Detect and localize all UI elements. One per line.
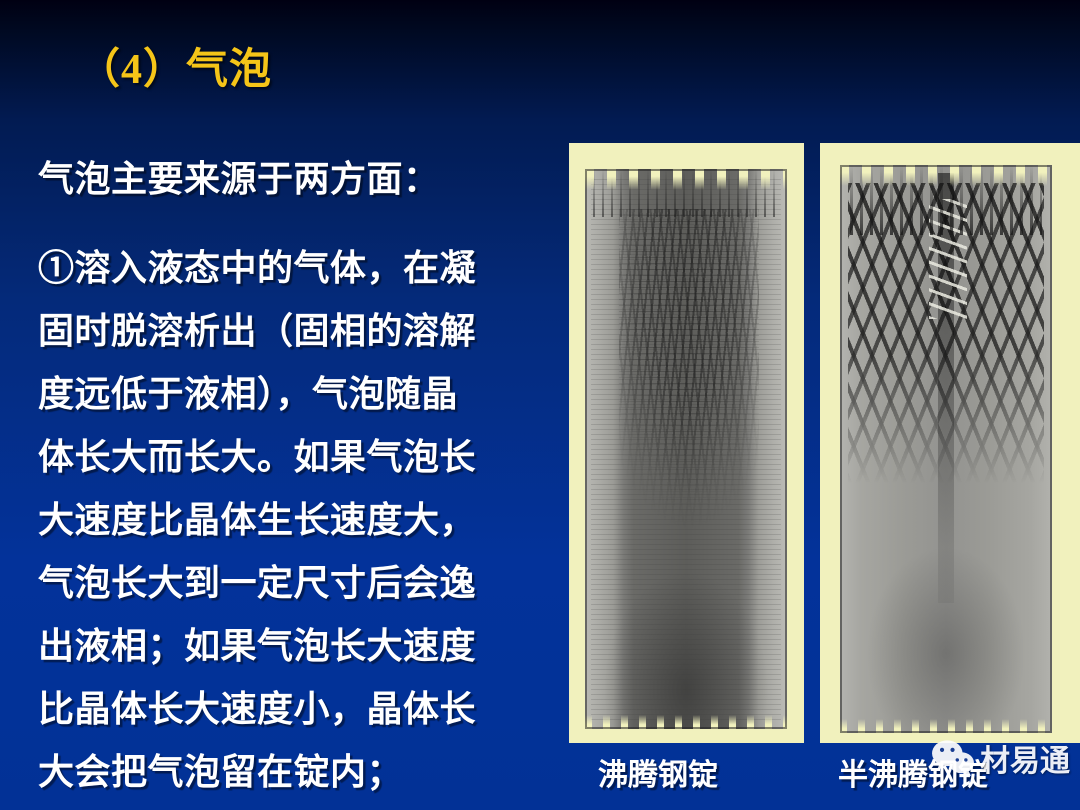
watermark: 材易通 bbox=[930, 736, 1070, 780]
body-line: 气泡长大到一定尺寸后会逸 bbox=[38, 552, 548, 615]
body-text-block: 气泡主要来源于两方面： ①溶入液态中的气体，在凝 固时脱溶析出（固相的溶解 度远… bbox=[38, 148, 548, 804]
figure-caption-left: 沸腾钢锭 bbox=[598, 750, 718, 794]
ingot-outline bbox=[585, 169, 787, 729]
body-line: 出液相；如果气泡长大速度 bbox=[38, 615, 548, 678]
body-line: 大速度比晶体生长速度大， bbox=[38, 489, 548, 552]
figure-semi-killed-steel-ingot bbox=[820, 143, 1080, 743]
ingot-macrograph-image bbox=[585, 169, 787, 729]
body-line: 气泡主要来源于两方面： bbox=[38, 148, 548, 211]
watermark-text: 材易通 bbox=[980, 736, 1070, 780]
body-line: 比晶体长大速度小，晶体长 bbox=[38, 678, 548, 741]
body-line: 固时脱溶析出（固相的溶解 bbox=[38, 300, 548, 363]
wechat-icon bbox=[930, 738, 976, 778]
page-title: （4）气泡 bbox=[78, 46, 272, 94]
body-line: ①溶入液态中的气体，在凝 bbox=[38, 237, 548, 300]
figure-group bbox=[565, 143, 1080, 743]
ingot-macrograph-image bbox=[840, 165, 1052, 733]
slide-canvas: （4）气泡 气泡主要来源于两方面： ①溶入液态中的气体，在凝 固时脱溶析出（固相… bbox=[0, 0, 1080, 810]
body-line: 度远低于液相），气泡随晶 bbox=[38, 363, 548, 426]
body-line: 体长大而长大。如果气泡长 bbox=[38, 426, 548, 489]
ingot-outline bbox=[840, 165, 1052, 733]
body-line: 大会把气泡留在锭内； bbox=[38, 741, 548, 804]
figure-rimmed-steel-ingot bbox=[569, 143, 804, 743]
